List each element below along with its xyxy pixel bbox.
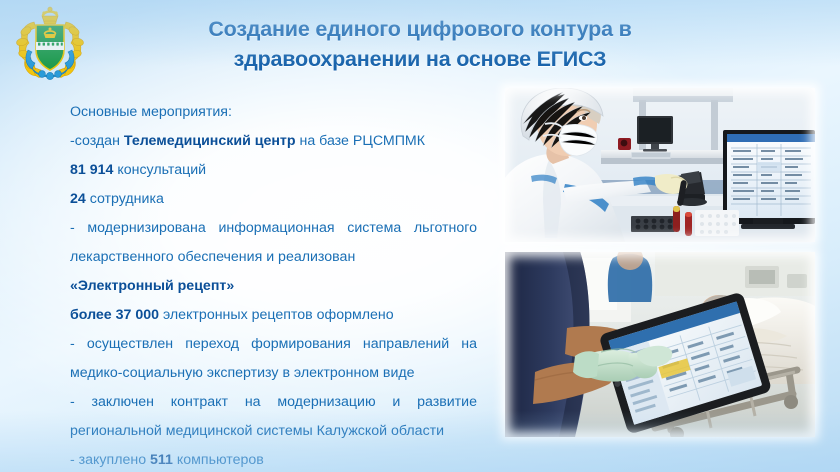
page-title-line-1: Создание единого цифрового контура в <box>208 17 631 41</box>
slide-header: Создание единого цифрового контура в здр… <box>0 0 840 88</box>
computers-suffix: компьютеров <box>173 452 264 468</box>
list-item-telemedicine-center: -создан Телемедицинский центр на базе РЦ… <box>70 127 477 156</box>
staff-label: сотрудника <box>86 191 164 207</box>
coat-of-arms-kaluga-oblast-icon <box>14 6 86 86</box>
list-item-preferential-drug-system: - модернизирована информационная система… <box>70 214 477 272</box>
intro-heading: Основные мероприятия: <box>70 98 477 127</box>
eprescription-label: электронных рецептов оформлено <box>159 307 394 323</box>
consultations-count: 81 914 <box>70 162 113 178</box>
photo-nurse-tablet-patient-bed <box>505 252 815 437</box>
telemedicine-suffix: на базе РЦСМПМК <box>296 133 425 149</box>
main-content-list: Основные мероприятия: -создан Телемедици… <box>70 98 477 472</box>
list-item-medical-social-expertise: - осуществлен переход формирования напра… <box>70 330 477 388</box>
eprescription-count: более 37 000 <box>70 307 159 323</box>
staff-count: 24 <box>70 191 86 207</box>
computers-prefix: - закуплено <box>70 452 150 468</box>
consultations-label: консультаций <box>113 162 206 178</box>
telemedicine-prefix: -создан <box>70 133 124 149</box>
computers-count: 511 <box>150 452 173 468</box>
photo-lab-technician-barcode-scanner <box>505 88 815 242</box>
slide-root: Создание единого цифрового контура в здр… <box>0 0 840 472</box>
electronic-prescription-title: «Электронный рецепт» <box>70 272 477 301</box>
list-item-consultations: 81 914 консультаций <box>70 156 477 185</box>
list-item-staff: 24 сотрудника <box>70 185 477 214</box>
page-title: Создание единого цифрового контура в здр… <box>120 14 720 74</box>
list-item-regional-system-contract: - заключен контракт на модернизацию и ра… <box>70 388 477 446</box>
list-item-electronic-prescriptions: более 37 000 электронных рецептов оформл… <box>70 301 477 330</box>
list-item-computers-purchased: - закуплено 511 компьютеров <box>70 446 477 472</box>
telemedicine-center-bold: Телемедицинский центр <box>124 133 296 149</box>
page-title-line-2: здравоохранении на основе ЕГИСЗ <box>120 44 720 74</box>
